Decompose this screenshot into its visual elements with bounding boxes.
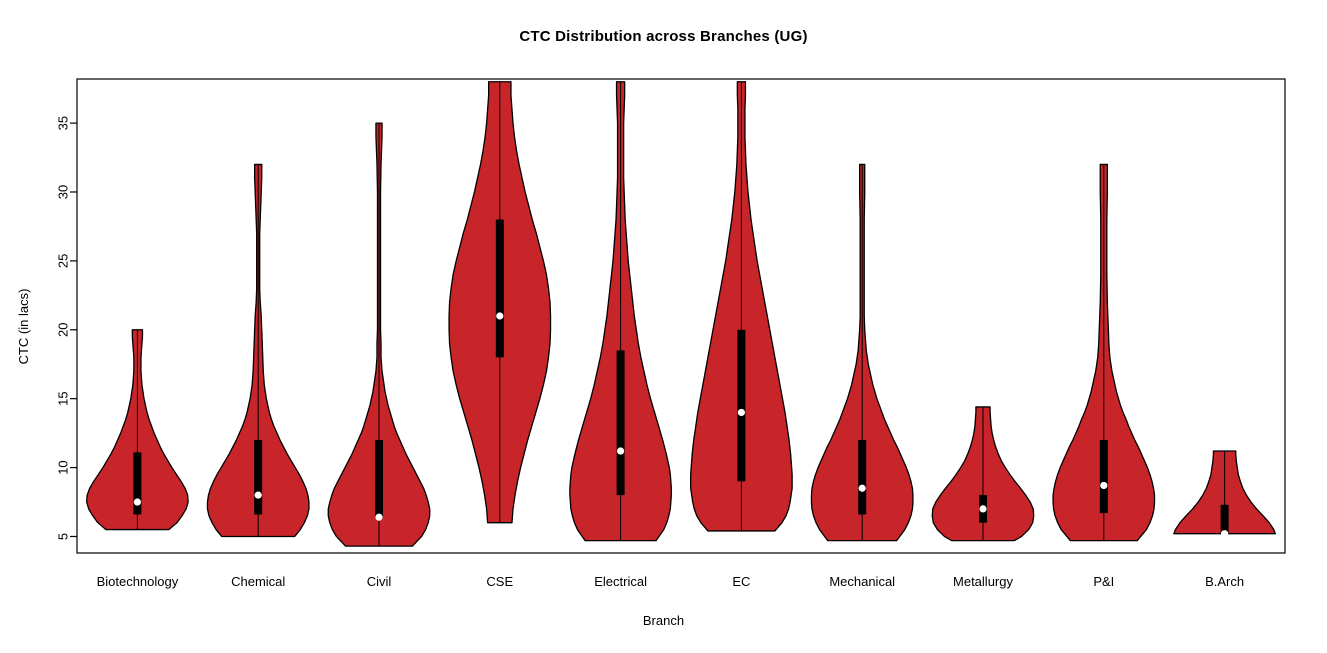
y-tick-label: 35 bbox=[56, 116, 71, 130]
violin-cse[interactable] bbox=[449, 82, 550, 523]
violin-p-i[interactable] bbox=[1053, 164, 1154, 540]
iqr-box bbox=[496, 220, 504, 358]
x-tick-label: Mechanical bbox=[829, 574, 895, 589]
iqr-box bbox=[737, 330, 745, 482]
x-tick-label: Biotechnology bbox=[97, 574, 179, 589]
median-marker bbox=[496, 312, 503, 319]
x-tick-label: Chemical bbox=[231, 574, 285, 589]
median-marker bbox=[979, 505, 986, 512]
violin-civil[interactable] bbox=[328, 123, 429, 546]
violin-chemical[interactable] bbox=[207, 164, 308, 536]
y-tick-label: 5 bbox=[56, 533, 71, 540]
median-marker bbox=[1221, 530, 1228, 537]
violin-metallurgy[interactable] bbox=[932, 407, 1033, 541]
median-marker bbox=[134, 498, 141, 505]
iqr-box bbox=[1221, 505, 1229, 534]
median-marker bbox=[738, 409, 745, 416]
iqr-box bbox=[254, 440, 262, 514]
y-tick-label: 30 bbox=[56, 185, 71, 199]
violins-layer bbox=[87, 82, 1276, 546]
x-tick-label: P&I bbox=[1093, 574, 1114, 589]
x-tick-label: CSE bbox=[486, 574, 513, 589]
median-marker bbox=[859, 485, 866, 492]
x-tick-label: B.Arch bbox=[1205, 574, 1244, 589]
median-marker bbox=[617, 447, 624, 454]
violin-electrical[interactable] bbox=[570, 82, 671, 541]
median-marker bbox=[255, 492, 262, 499]
y-tick-label: 10 bbox=[56, 460, 71, 474]
plot-area: 5101520253035BiotechnologyChemicalCivilC… bbox=[0, 0, 1327, 653]
iqr-box bbox=[617, 350, 625, 495]
violin-b-arch[interactable] bbox=[1174, 451, 1275, 537]
violin-chart: CTC Distribution across Branches (UG) CT… bbox=[0, 0, 1327, 653]
iqr-box bbox=[375, 440, 383, 517]
y-tick-label: 15 bbox=[56, 391, 71, 405]
x-tick-label: EC bbox=[732, 574, 750, 589]
x-tick-label: Electrical bbox=[594, 574, 647, 589]
iqr-box bbox=[1100, 440, 1108, 513]
x-tick-label: Metallurgy bbox=[953, 574, 1013, 589]
violin-mechanical[interactable] bbox=[811, 164, 912, 540]
median-marker bbox=[1100, 482, 1107, 489]
violin-biotechnology[interactable] bbox=[87, 330, 188, 530]
y-tick-label: 25 bbox=[56, 254, 71, 268]
violin-ec[interactable] bbox=[691, 82, 792, 531]
iqr-box bbox=[858, 440, 866, 514]
median-marker bbox=[375, 514, 382, 521]
x-tick-label: Civil bbox=[367, 574, 392, 589]
y-tick-label: 20 bbox=[56, 323, 71, 337]
